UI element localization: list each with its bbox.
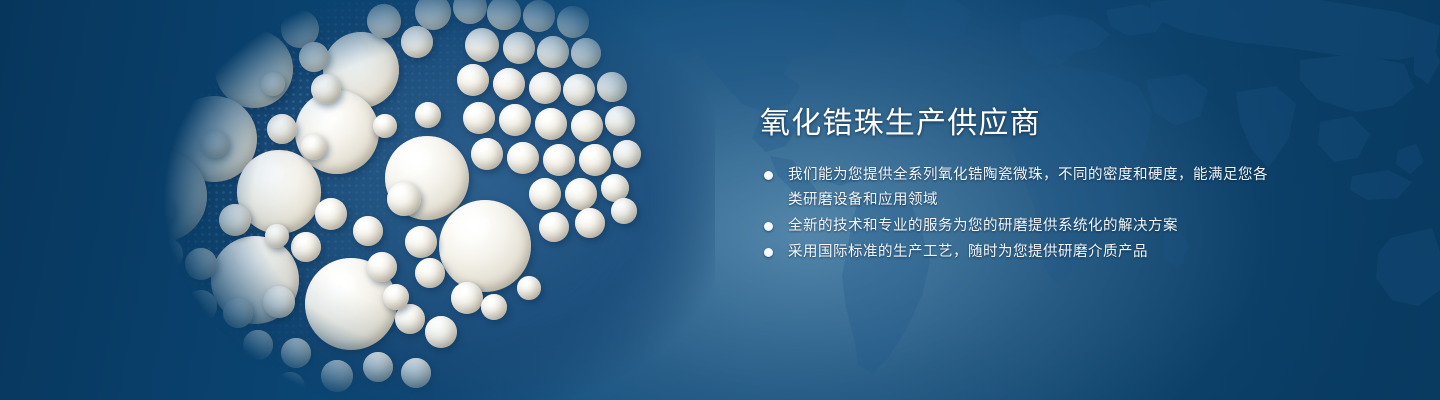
banner-content: 氧化锆珠生产供应商 我们能为您提供全系列氧化锆陶瓷微珠，不同的密度和硬度，能满足… — [760, 104, 1280, 266]
bead-cluster — [115, 0, 715, 400]
zirconia-beads-photo — [115, 0, 715, 400]
bullet-dot-icon — [764, 171, 773, 180]
list-item: 全新的技术和专业的服务为您的研磨提供系统化的解决方案 — [760, 214, 1280, 239]
list-item: 我们能为您提供全系列氧化锆陶瓷微珠，不同的密度和硬度，能满足您各类研磨设备和应用… — [760, 163, 1280, 213]
list-item-text: 全新的技术和专业的服务为您的研磨提供系统化的解决方案 — [788, 218, 1178, 234]
list-item-text: 采用国际标准的生产工艺，随时为您提供研磨介质产品 — [788, 244, 1148, 260]
bullet-dot-icon — [764, 222, 773, 231]
feature-list: 我们能为您提供全系列氧化锆陶瓷微珠，不同的密度和硬度，能满足您各类研磨设备和应用… — [760, 163, 1280, 265]
page-title: 氧化锆珠生产供应商 — [760, 104, 1280, 144]
promo-banner: 氧化锆珠生产供应商 我们能为您提供全系列氧化锆陶瓷微珠，不同的密度和硬度，能满足… — [0, 0, 1440, 400]
list-item-text: 我们能为您提供全系列氧化锆陶瓷微珠，不同的密度和硬度，能满足您各类研磨设备和应用… — [788, 167, 1268, 208]
bullet-dot-icon — [764, 248, 773, 257]
list-item: 采用国际标准的生产工艺，随时为您提供研磨介质产品 — [760, 240, 1280, 265]
